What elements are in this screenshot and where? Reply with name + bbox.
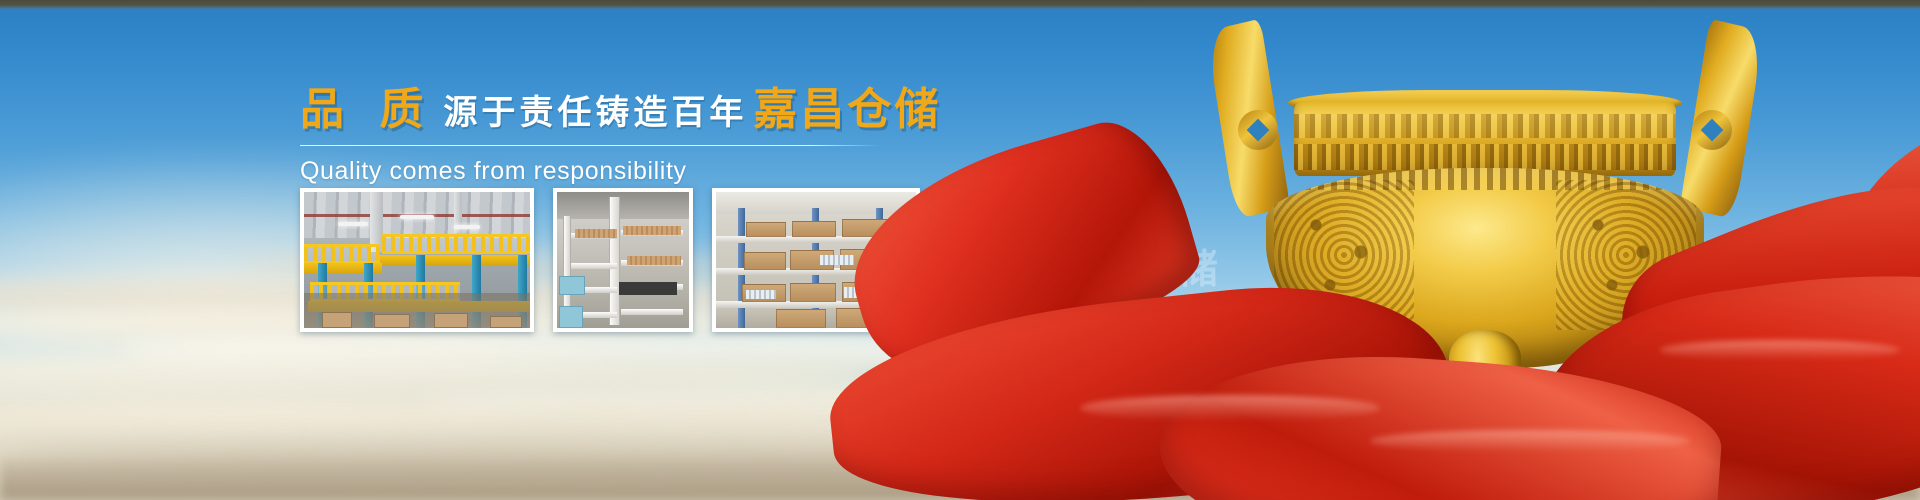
ding-neck-pattern [1294,102,1676,176]
ribbon-highlight [1370,430,1690,452]
artwork-ding-and-ribbon [1040,0,1920,500]
photo-inner [304,192,530,328]
headline: 品 质 源于责任铸造百年 嘉昌仓储 [300,88,940,132]
headline-white-mid: 源于责任铸造百年 [443,96,747,130]
subtitle-text: Quality comes from responsibility [300,157,940,186]
cantilever-rack-illustration [557,192,689,328]
photo-mezzanine-racking-platform[interactable] [300,188,534,332]
headline-divider [300,145,880,146]
headline-block: 品 质 源于责任铸造百年 嘉昌仓储 Quality comes from res… [300,88,940,186]
photo-inner [557,192,689,328]
ribbon-highlight [1660,340,1900,360]
ding-ring-left [1238,110,1278,150]
photo-strip [300,188,920,332]
photo-cantilever-rack[interactable] [553,188,693,332]
headline-gold-lead: 品 质 [300,88,433,132]
ding-ring-right [1692,110,1732,150]
ribbon-highlight [1080,395,1380,421]
warehouse-scene-illustration [304,192,530,328]
promo-banner: 嘉昌仓储 品 质 源于责任铸造百年 嘉昌仓储 Quality comes fro… [0,0,1920,500]
headline-brand-name: 嘉昌仓储 [753,88,941,132]
